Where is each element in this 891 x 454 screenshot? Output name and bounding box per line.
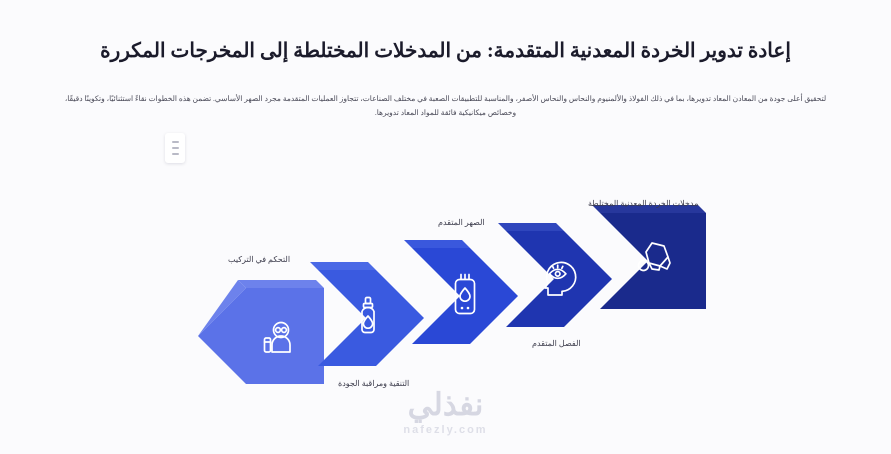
flow-step-label-separation: الفصل المتقدم — [532, 339, 581, 348]
flow-step-refining[interactable] — [318, 270, 424, 366]
watermark-latin: nafezly.com — [0, 424, 891, 436]
flow-step-label-inputs: مدخلات الخردة المعدنية المختلطة — [588, 199, 698, 208]
slide-canvas: إعادة تدوير الخردة المعدنية المتقدمة: من… — [0, 0, 891, 454]
page-title: إعادة تدوير الخردة المعدنية المتقدمة: من… — [0, 38, 891, 63]
flow-step-separation[interactable] — [506, 231, 612, 327]
flow-step-scientist[interactable] — [198, 288, 324, 384]
flow-step-inputs[interactable] — [600, 213, 706, 309]
more-vertical-icon[interactable] — [165, 133, 185, 163]
chevron-process-flow: التحكم في التركيب التنقية ومراقبة الجودة — [0, 185, 891, 415]
page-description: لتحقيق أعلى جودة من المعادن المعاد تدوير… — [52, 92, 839, 120]
flow-step-label-smelting: الصهر المتقدم — [438, 218, 485, 227]
flow-step-label-scientist: التحكم في التركيب — [228, 255, 290, 264]
flow-step-label-refining: التنقية ومراقبة الجودة — [338, 379, 409, 388]
flow-step-smelting[interactable] — [412, 248, 518, 344]
